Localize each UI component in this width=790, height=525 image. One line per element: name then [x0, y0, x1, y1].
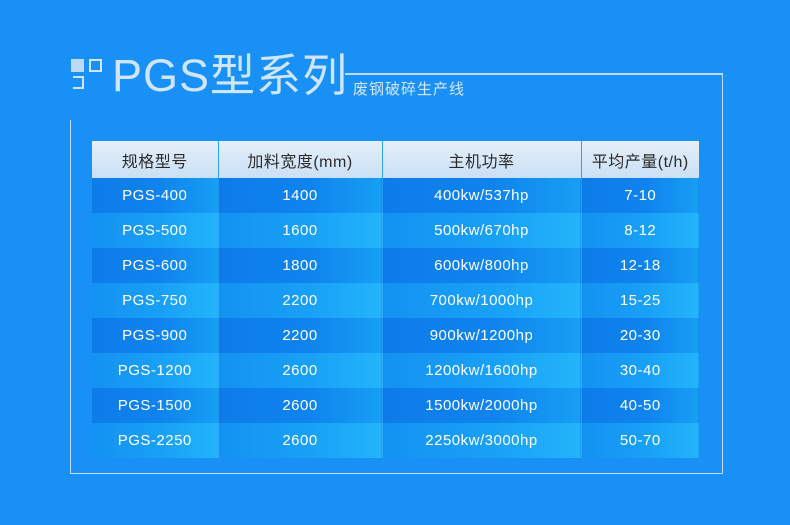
square-outline-tr-icon [89, 59, 102, 72]
table-row: PGS-120026001200kw/1600hp30-40 [92, 353, 699, 388]
cell-width: 2600 [218, 353, 382, 388]
cell-width: 2600 [218, 388, 382, 423]
cell-model: PGS-1200 [92, 353, 218, 388]
cell-model: PGS-900 [92, 318, 218, 353]
cell-power: 500kw/670hp [382, 213, 581, 248]
cell-model: PGS-600 [92, 248, 218, 283]
page-title: PGS型系列 [112, 50, 348, 102]
column-header-power: 主机功率 [382, 141, 581, 178]
column-header-width: 加料宽度(mm) [218, 141, 382, 178]
cell-output: 30-40 [581, 353, 699, 388]
table-row: PGS-4001400400kw/537hp7-10 [92, 178, 699, 213]
cell-power: 900kw/1200hp [382, 318, 581, 353]
cell-power: 1200kw/1600hp [382, 353, 581, 388]
column-header-output: 平均产量(t/h) [581, 141, 699, 178]
cell-width: 2200 [218, 318, 382, 353]
cell-width: 1600 [218, 213, 382, 248]
table-body: PGS-4001400400kw/537hp7-10PGS-5001600500… [92, 178, 699, 458]
specification-table: 规格型号 加料宽度(mm) 主机功率 平均产量(t/h) PGS-4001400… [92, 141, 699, 458]
cell-output: 40-50 [581, 388, 699, 423]
column-header-model: 规格型号 [92, 141, 218, 178]
frame-top-border-segment [345, 73, 723, 75]
frame-left-border-gap [68, 72, 73, 120]
cell-power: 2250kw/3000hp [382, 423, 581, 458]
cell-power: 700kw/1000hp [382, 283, 581, 318]
cell-output: 8-12 [581, 213, 699, 248]
square-filled-icon [71, 59, 84, 72]
table-header: 规格型号 加料宽度(mm) 主机功率 平均产量(t/h) [92, 141, 699, 178]
cell-model: PGS-400 [92, 178, 218, 213]
table-row: PGS-6001800600kw/800hp12-18 [92, 248, 699, 283]
cell-output: 7-10 [581, 178, 699, 213]
cell-model: PGS-750 [92, 283, 218, 318]
cell-power: 400kw/537hp [382, 178, 581, 213]
cell-power: 1500kw/2000hp [382, 388, 581, 423]
table-header-row: 规格型号 加料宽度(mm) 主机功率 平均产量(t/h) [92, 141, 699, 178]
table-row: PGS-9002200900kw/1200hp20-30 [92, 318, 699, 353]
cell-width: 1800 [218, 248, 382, 283]
cell-width: 1400 [218, 178, 382, 213]
cell-model: PGS-500 [92, 213, 218, 248]
cell-width: 2200 [218, 283, 382, 318]
table-row: PGS-225026002250kw/3000hp50-70 [92, 423, 699, 458]
page-subtitle: 废钢破碎生产线 [353, 80, 465, 100]
cell-power: 600kw/800hp [382, 248, 581, 283]
table-row: PGS-5001600500kw/670hp8-12 [92, 213, 699, 248]
cell-model: PGS-2250 [92, 423, 218, 458]
cell-output: 12-18 [581, 248, 699, 283]
cell-model: PGS-1500 [92, 388, 218, 423]
cell-output: 15-25 [581, 283, 699, 318]
cell-width: 2600 [218, 423, 382, 458]
table-row: PGS-7502200700kw/1000hp15-25 [92, 283, 699, 318]
cell-output: 20-30 [581, 318, 699, 353]
cell-output: 50-70 [581, 423, 699, 458]
table-row: PGS-150026001500kw/2000hp40-50 [92, 388, 699, 423]
